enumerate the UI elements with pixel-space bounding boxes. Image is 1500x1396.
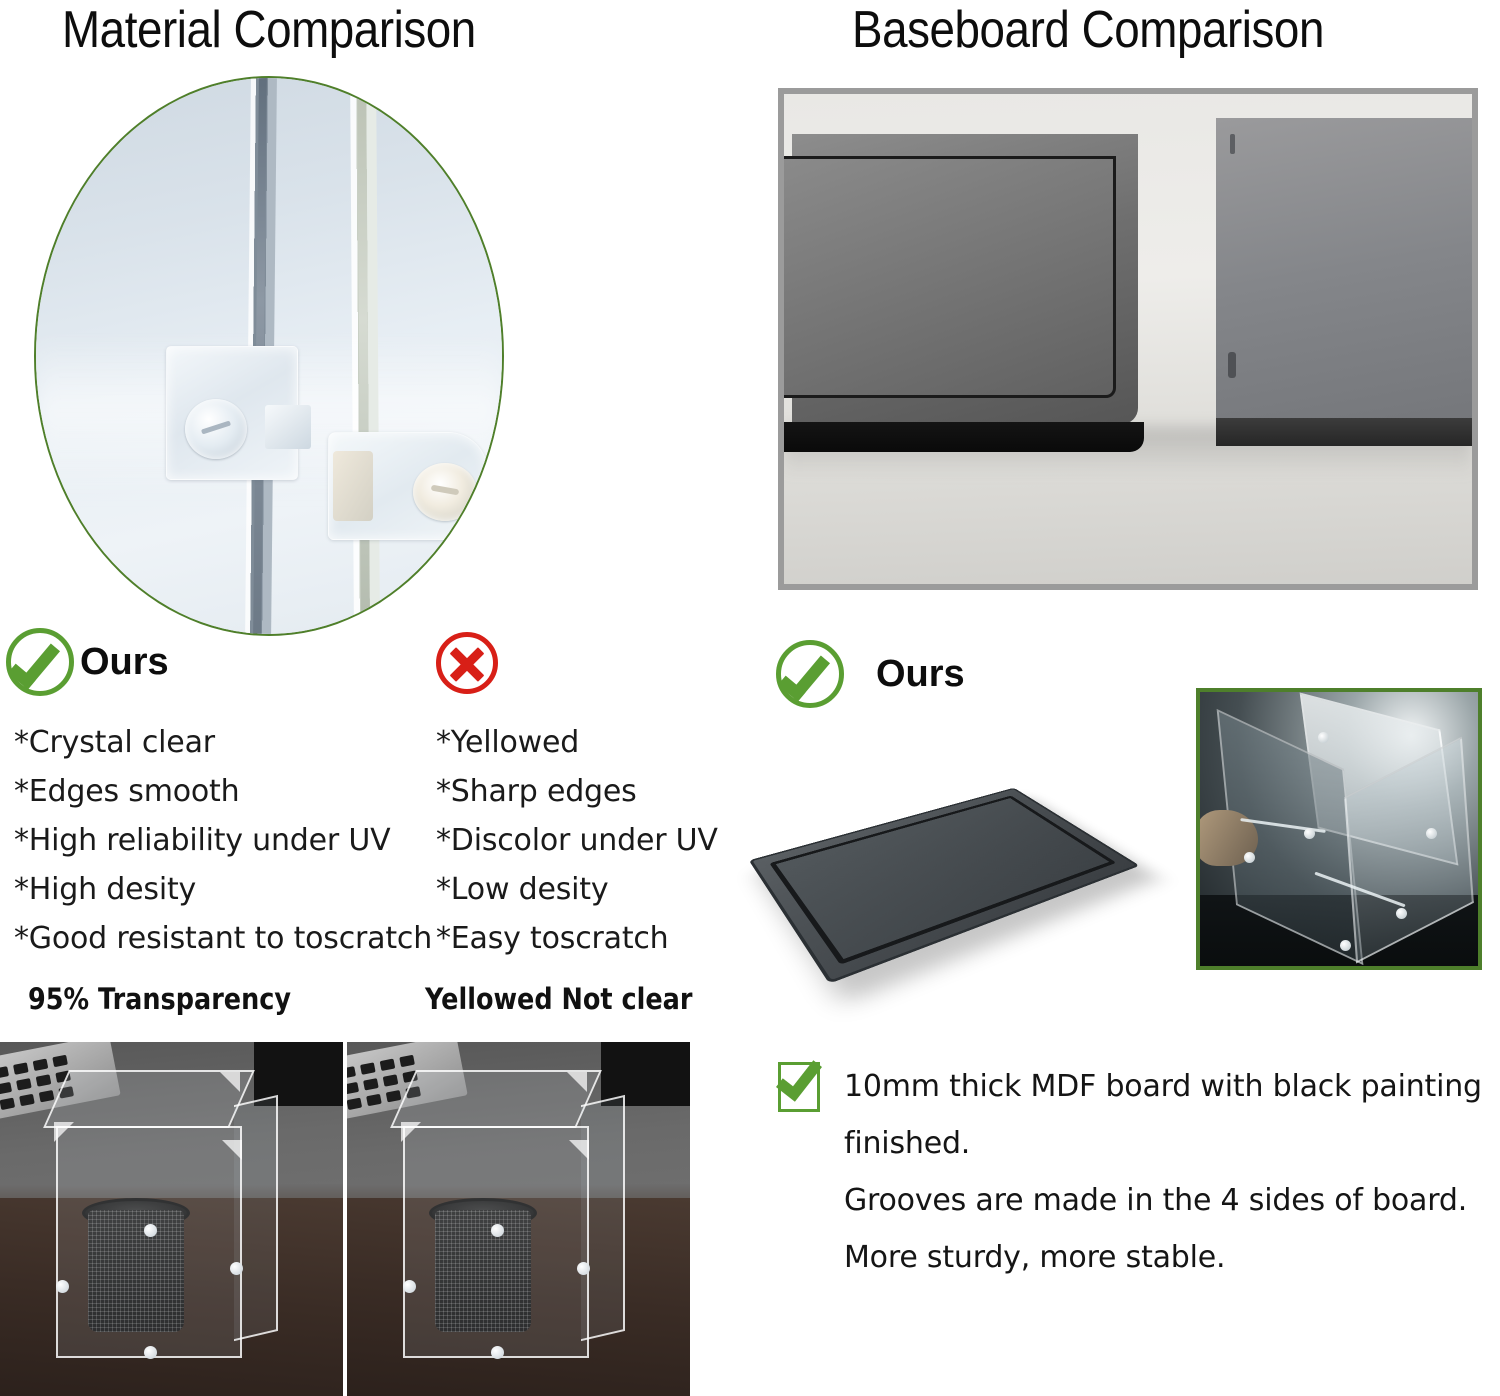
box-stud bbox=[1244, 852, 1255, 863]
list-item: *Discolor under UV bbox=[436, 816, 718, 865]
acrylic-box-photo bbox=[1196, 688, 1482, 970]
mdf-line: finished. bbox=[778, 1115, 1478, 1172]
list-item: *Easy toscratch bbox=[436, 914, 718, 963]
list-item: *Crystal clear bbox=[14, 718, 432, 767]
list-item: *Low desity bbox=[436, 865, 718, 914]
page-title-baseboard: Baseboard Comparison bbox=[852, 0, 1324, 60]
acrylic-display-case bbox=[48, 1064, 280, 1364]
screw-head-right bbox=[413, 463, 477, 521]
connector-hardware-right bbox=[328, 432, 488, 540]
mdf-line: 10mm thick MDF board with black painting bbox=[778, 1058, 1478, 1115]
mdf-line: Grooves are made in the 4 sides of board… bbox=[778, 1172, 1478, 1229]
box-stud bbox=[1340, 940, 1351, 951]
case-front-panel bbox=[56, 1126, 242, 1358]
box-stud bbox=[1426, 828, 1437, 839]
case-stud bbox=[56, 1280, 69, 1293]
case-front-panel bbox=[403, 1126, 589, 1358]
list-item: *Yellowed bbox=[436, 718, 718, 767]
box-stud bbox=[1304, 828, 1315, 839]
x-glyph bbox=[441, 637, 493, 689]
transparency-caption-ours: 95% Transparency bbox=[28, 982, 291, 1016]
baseboard-ours-badge: Ours bbox=[776, 640, 965, 708]
x-circle-icon bbox=[436, 632, 498, 694]
baseboard-ours-label: Ours bbox=[876, 653, 965, 696]
list-item: *High desity bbox=[14, 865, 432, 914]
board-black-edge bbox=[784, 422, 1144, 452]
acrylic-display-case bbox=[395, 1064, 627, 1364]
case-stud bbox=[230, 1262, 243, 1275]
screw-head-left bbox=[185, 399, 247, 459]
list-item: *Sharp edges bbox=[436, 767, 718, 816]
baseboard-comparison-photo bbox=[778, 88, 1478, 590]
case-stud bbox=[577, 1262, 590, 1275]
check-circle-icon bbox=[776, 640, 844, 708]
raw-board-edge bbox=[1216, 418, 1478, 446]
clear-case-photo bbox=[0, 1042, 343, 1396]
list-item: *Good resistant to toscratch bbox=[14, 914, 432, 963]
box-stud bbox=[1318, 732, 1329, 743]
board-nick-top bbox=[1230, 134, 1235, 154]
material-ours-label: Ours bbox=[80, 641, 169, 684]
check-glyph bbox=[778, 646, 830, 701]
material-ours-badge: Ours bbox=[6, 628, 169, 696]
page-title-material: Material Comparison bbox=[62, 0, 476, 60]
theirs-feature-list: *Yellowed *Sharp edges *Discolor under U… bbox=[436, 718, 718, 963]
mdf-description-block: 10mm thick MDF board with black painting… bbox=[778, 1058, 1478, 1286]
baseboard-plate bbox=[749, 788, 1140, 984]
connector-hardware-left bbox=[166, 346, 298, 480]
case-top-panel bbox=[43, 1070, 255, 1128]
list-item: *Edges smooth bbox=[14, 767, 432, 816]
case-top-panel bbox=[390, 1070, 602, 1128]
case-stud bbox=[144, 1346, 157, 1359]
photo-content bbox=[36, 78, 502, 634]
box-stud bbox=[1396, 908, 1407, 919]
connector-post-right bbox=[333, 451, 373, 521]
black-painted-board bbox=[792, 134, 1138, 424]
material-closeup-photo bbox=[34, 76, 504, 636]
board-groove bbox=[784, 156, 1116, 398]
check-square-icon bbox=[778, 1062, 820, 1112]
connector-tab-left bbox=[265, 405, 311, 449]
check-circle-icon bbox=[6, 628, 74, 696]
case-stud bbox=[403, 1280, 416, 1293]
case-stud bbox=[491, 1346, 504, 1359]
list-item: *High reliability under UV bbox=[14, 816, 432, 865]
transparency-caption-theirs: Yellowed Not clear bbox=[425, 982, 692, 1016]
mdf-line: More sturdy, more stable. bbox=[778, 1229, 1478, 1286]
board-nick-bottom bbox=[1228, 352, 1236, 378]
ours-feature-list: *Crystal clear *Edges smooth *High relia… bbox=[14, 718, 432, 963]
case-stud bbox=[491, 1224, 504, 1237]
case-stud bbox=[144, 1224, 157, 1237]
check-glyph bbox=[8, 634, 60, 689]
infographic-page: Material Comparison Baseboard Comparison bbox=[0, 0, 1500, 1396]
mdf-baseboard-photo bbox=[760, 736, 1180, 1006]
material-theirs-badge bbox=[436, 632, 504, 694]
acrylic-sheet-right bbox=[350, 76, 380, 628]
yellowed-case-photo bbox=[347, 1042, 690, 1396]
raw-grey-board bbox=[1216, 118, 1478, 418]
